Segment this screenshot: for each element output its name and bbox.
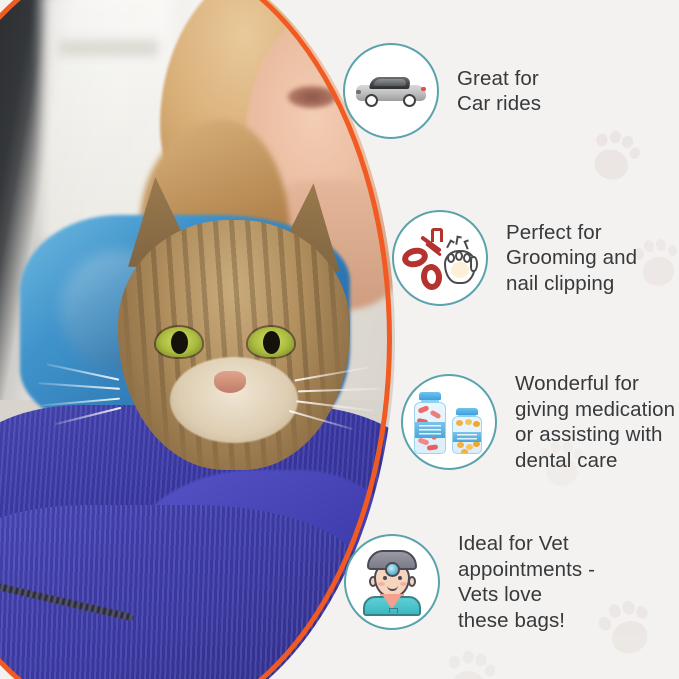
medicine-bottles-icon — [401, 374, 497, 470]
feature-label: Wonderful for giving medication or assis… — [515, 371, 675, 473]
product-feature-infographic: Great for Car rides — [0, 0, 679, 679]
feature-item-vet: Ideal for Vet appointments - Vets love t… — [344, 531, 595, 633]
feature-label: Ideal for Vet appointments - Vets love t… — [458, 531, 595, 633]
feature-label: Great for Car rides — [457, 66, 541, 117]
car-icon — [343, 43, 439, 139]
feature-item-grooming: Perfect for Grooming and nail clipping — [392, 210, 637, 306]
feature-label: Perfect for Grooming and nail clipping — [506, 220, 637, 297]
nail-clippers-paw-icon — [392, 210, 488, 306]
feature-list: Great for Car rides — [0, 0, 679, 679]
veterinarian-icon — [344, 534, 440, 630]
feature-item-medication: Wonderful for giving medication or assis… — [401, 371, 675, 473]
feature-item-car-rides: Great for Car rides — [343, 43, 541, 139]
